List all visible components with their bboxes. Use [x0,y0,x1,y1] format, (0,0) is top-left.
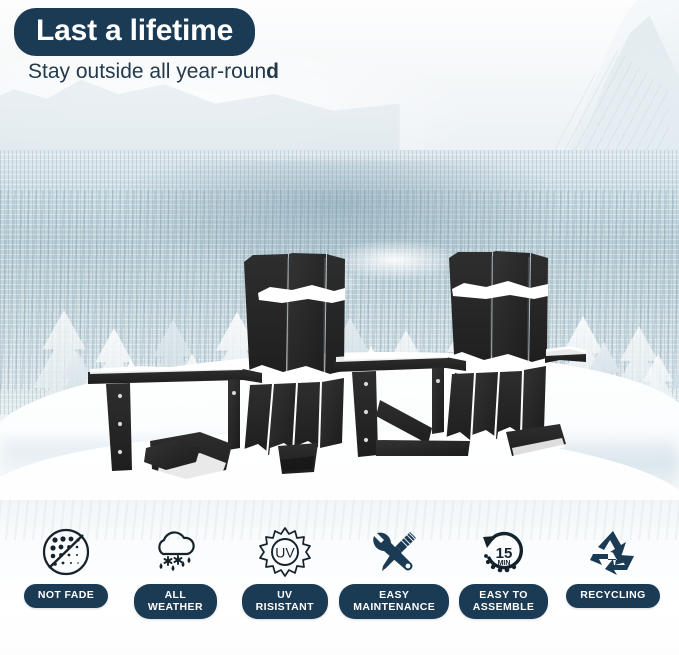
subheadline: Stay outside all year-round [28,61,679,82]
feature-label: UV RISISTANT [242,584,328,619]
uv-sunburst-icon: UV [259,524,311,580]
subheadline-tail: d [266,60,279,83]
product-feature-image: Last a lifetime Stay outside all year-ro… [0,0,679,655]
assemble-unit: MIN [497,560,510,567]
recycling-icon [587,524,639,580]
feature-label: EASY TO ASSEMBLE [459,584,549,619]
chair-left [88,253,349,481]
fade-dots-slash-icon [41,524,91,580]
feature-label: NOT FADE [24,584,108,608]
wrench-screwdriver-icon [368,524,420,580]
feature-label: EASY MAINTENANCE [339,584,449,619]
feature-label: RECYCLING [566,584,659,608]
chair-right [334,251,586,457]
clock-arrow-15min-icon: 15 MIN [478,524,530,580]
feature-badge-row: NOT FADE ALL [0,524,679,634]
headline-badge: Last a lifetime [14,8,255,56]
header: Last a lifetime Stay outside all year-ro… [0,0,679,82]
feature-uv-resistant[interactable]: UV UV RISISTANT [233,524,337,619]
feature-easy-maintenance[interactable]: EASY MAINTENANCE [342,524,446,619]
feature-easy-to-assemble[interactable]: 15 MIN EASY TO ASSEMBLE [452,524,556,619]
feature-recycling[interactable]: RECYCLING [561,524,665,608]
cloud-snow-rain-icon [149,524,201,580]
feature-label: ALL WEATHER [134,584,217,619]
feature-all-weather[interactable]: ALL WEATHER [123,524,227,619]
feature-not-fade[interactable]: NOT FADE [14,524,118,608]
subheadline-text: Stay outside all year-roun [28,60,266,83]
uv-inner-text: UV [275,545,295,561]
